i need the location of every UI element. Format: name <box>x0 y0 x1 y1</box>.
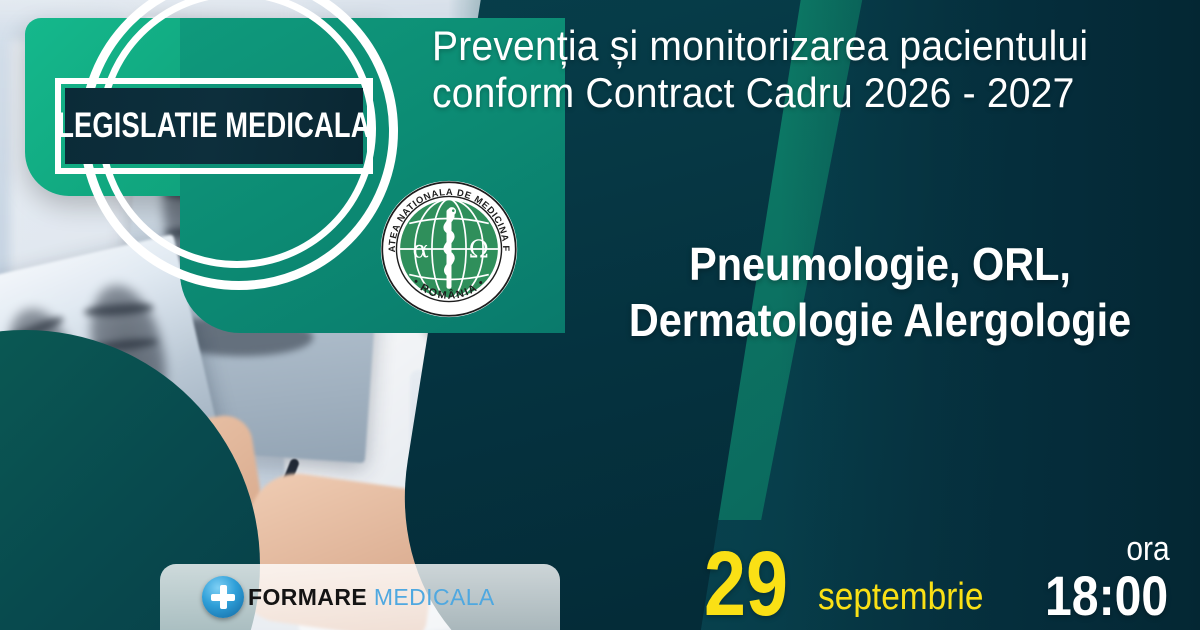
brand-bar: FORMARE MEDICALA <box>160 564 560 630</box>
brand-name-light: MEDICALA <box>374 584 495 610</box>
webinar-promo-poster: LEGISLATIE MEDICALA α Ω <box>0 0 1200 630</box>
event-time-block: ora 18:00 <box>1035 532 1200 624</box>
snmf-romania-logo: α Ω SOCIETATEA NATIONALA DE MEDICINA FAM… <box>378 178 520 320</box>
alpha-glyph: α <box>412 236 428 264</box>
medical-cross-icon <box>202 576 244 618</box>
subject-heading: Pneumologie, ORL, Dermatologie Alergolog… <box>560 236 1200 348</box>
event-time: 18:00 <box>1045 568 1168 624</box>
title-line-2: conform Contract Cadru 2026 - 2027 <box>432 69 1139 116</box>
event-day: 29 <box>704 545 788 624</box>
brand-name-bold: FORMARE <box>248 584 367 610</box>
ora-label: ora <box>1043 532 1169 566</box>
title-line-1: Prevenția și monitorizarea pacientului <box>432 22 1139 69</box>
omega-glyph: Ω <box>469 236 489 264</box>
subject-line-2: Dermatologie Alergologie <box>592 292 1168 348</box>
event-month: septembrie <box>818 578 983 616</box>
cross-glyph <box>211 585 235 609</box>
badge-white-frame <box>55 78 373 174</box>
badge-panel: LEGISLATIE MEDICALA <box>25 18 385 196</box>
subject-line-1: Pneumologie, ORL, <box>592 236 1168 292</box>
brand-name: FORMARE MEDICALA <box>248 584 495 611</box>
page-title: Prevenția și monitorizarea pacientului c… <box>432 22 1192 116</box>
schedule-block: 29 septembrie ora 18:00 <box>620 492 1200 624</box>
